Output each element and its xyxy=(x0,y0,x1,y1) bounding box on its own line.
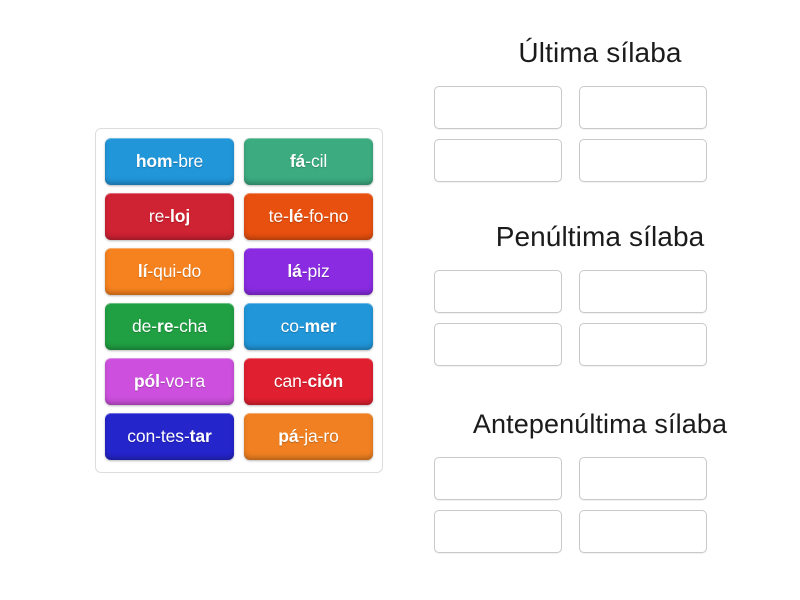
tile-cell: re-loj xyxy=(100,189,239,244)
category-title-antepenultima: Antepenúltima sílaba xyxy=(400,410,800,440)
category-title-ultima: Última sílaba xyxy=(400,38,800,69)
dropzone-grid-antepenultima xyxy=(428,452,718,558)
dropzone-ultima-4[interactable] xyxy=(579,139,707,182)
syllable: ja xyxy=(304,426,317,447)
syllable: fo xyxy=(309,206,323,227)
stressed-syllable: lá xyxy=(287,261,301,282)
dropzone-penultima-1[interactable] xyxy=(434,270,562,313)
dropzone-antepenultima-3[interactable] xyxy=(434,510,562,553)
syllable: re xyxy=(149,206,164,227)
stressed-syllable: lé xyxy=(289,206,303,227)
dropzone-antepenultima-4[interactable] xyxy=(579,510,707,553)
syllable: qui xyxy=(153,261,176,282)
stressed-syllable: loj xyxy=(170,206,190,227)
stressed-syllable: ción xyxy=(308,371,344,392)
tile-cell: te-lé-fo-no xyxy=(239,189,378,244)
dropzone-cell xyxy=(428,81,573,134)
word-tile[interactable]: re-loj xyxy=(105,193,234,240)
dropzone-penultima-4[interactable] xyxy=(579,323,707,366)
word-tile[interactable]: lá-piz xyxy=(244,248,373,295)
tile-cell: pól-vo-ra xyxy=(100,354,239,409)
category-title-penultima: Penúltima sílaba xyxy=(400,222,800,253)
syllable: tes xyxy=(161,426,184,447)
stressed-syllable: tar xyxy=(190,426,212,447)
syllable: no xyxy=(329,206,348,227)
dropzone-cell xyxy=(428,505,573,558)
syllable: de xyxy=(132,316,151,337)
dropzone-ultima-2[interactable] xyxy=(579,86,707,129)
word-tile[interactable]: co-mer xyxy=(244,303,373,350)
stressed-syllable: lí xyxy=(138,261,148,282)
syllable: bre xyxy=(178,151,203,172)
dropzone-ultima-3[interactable] xyxy=(434,139,562,182)
tile-cell: lí-qui-do xyxy=(100,244,239,299)
dropzone-antepenultima-1[interactable] xyxy=(434,457,562,500)
stressed-syllable: mer xyxy=(305,316,337,337)
dropzone-antepenultima-2[interactable] xyxy=(579,457,707,500)
syllable: do xyxy=(182,261,201,282)
tile-cell: hom-bre xyxy=(100,134,239,189)
category-penultima: Penúltima sílaba xyxy=(400,222,800,371)
stressed-syllable: fá xyxy=(290,151,305,172)
stressed-syllable: pól xyxy=(134,371,160,392)
tile-cell: con-tes-tar xyxy=(100,409,239,464)
dropzone-cell xyxy=(428,452,573,505)
dropzone-penultima-2[interactable] xyxy=(579,270,707,313)
dropzone-cell xyxy=(573,265,718,318)
dropzone-cell xyxy=(428,265,573,318)
dropzone-cell xyxy=(573,452,718,505)
dropzone-grid-penultima xyxy=(428,265,718,371)
tile-cell: can-ción xyxy=(239,354,378,409)
dropzone-cell xyxy=(573,318,718,371)
dropzone-cell xyxy=(428,318,573,371)
syllable: ro xyxy=(323,426,338,447)
tile-cell: pá-ja-ro xyxy=(239,409,378,464)
syllable: con xyxy=(127,426,155,447)
stressed-syllable: hom xyxy=(136,151,173,172)
dropzone-cell xyxy=(428,134,573,187)
dropzone-ultima-1[interactable] xyxy=(434,86,562,129)
word-tile[interactable]: de-re-cha xyxy=(105,303,234,350)
word-tile[interactable]: lí-qui-do xyxy=(105,248,234,295)
syllable: piz xyxy=(308,261,330,282)
stressed-syllable: re xyxy=(157,316,173,337)
syllable: te xyxy=(269,206,283,227)
syllable: ra xyxy=(190,371,205,392)
category-antepenultima: Antepenúltima sílaba xyxy=(400,410,800,558)
word-tile[interactable]: hom-bre xyxy=(105,138,234,185)
syllable: vo xyxy=(166,371,184,392)
category-drop-area: Última sílaba Penúltima sílaba Antepenúl… xyxy=(400,0,800,600)
dropzone-cell xyxy=(573,81,718,134)
syllable: co xyxy=(281,316,299,337)
word-tile[interactable]: con-tes-tar xyxy=(105,413,234,460)
word-tile[interactable]: pá-ja-ro xyxy=(244,413,373,460)
stressed-syllable: pá xyxy=(278,426,298,447)
category-ultima: Última sílaba xyxy=(400,38,800,187)
tile-cell: de-re-cha xyxy=(100,299,239,354)
dropzone-penultima-3[interactable] xyxy=(434,323,562,366)
dropzone-cell xyxy=(573,505,718,558)
dropzone-cell xyxy=(573,134,718,187)
word-tile[interactable]: pól-vo-ra xyxy=(105,358,234,405)
tile-cell: lá-piz xyxy=(239,244,378,299)
tile-cell: fá-cil xyxy=(239,134,378,189)
word-tile[interactable]: fá-cil xyxy=(244,138,373,185)
word-tile[interactable]: can-ción xyxy=(244,358,373,405)
dropzone-grid-ultima xyxy=(428,81,718,187)
tile-cell: co-mer xyxy=(239,299,378,354)
word-tile-tray: hom-brefá-cilre-lojte-lé-fo-nolí-qui-dol… xyxy=(95,128,383,473)
syllable: can xyxy=(274,371,302,392)
word-tile[interactable]: te-lé-fo-no xyxy=(244,193,373,240)
syllable: cha xyxy=(179,316,207,337)
syllable: cil xyxy=(311,151,327,172)
